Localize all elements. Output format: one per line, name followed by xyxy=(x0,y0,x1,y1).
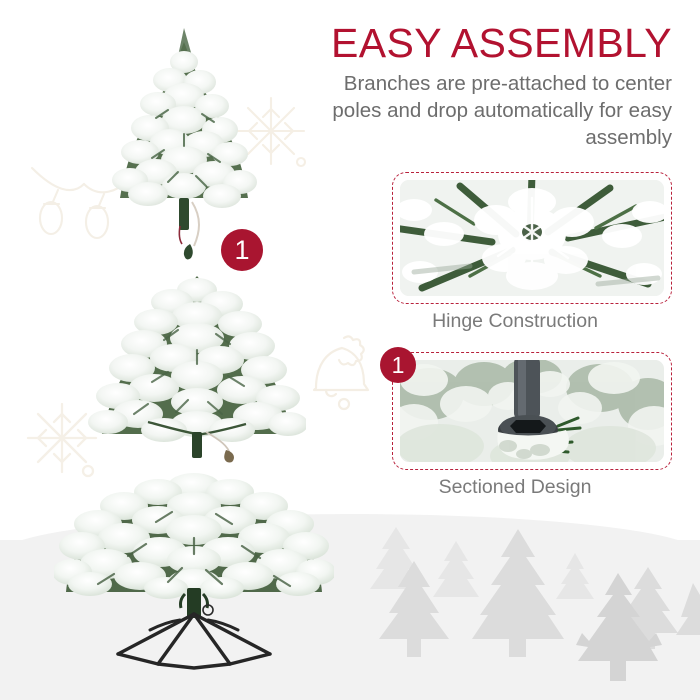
text-column: EASY ASSEMBLY Branches are pre-attached … xyxy=(330,0,700,700)
product-photo-column: 1 xyxy=(0,0,330,700)
sectioned-caption: Sectioned Design xyxy=(330,476,700,499)
page-title: EASY ASSEMBLY xyxy=(330,22,672,65)
hinge-panel-border xyxy=(392,172,672,304)
feature-panel-hinge xyxy=(392,172,672,304)
step-badge-panel: 1 xyxy=(380,347,416,383)
sectioned-panel-border xyxy=(392,352,672,470)
step-badge-tree: 1 xyxy=(221,229,263,271)
feature-panel-sectioned xyxy=(392,352,672,470)
page-subtitle: Branches are pre-attached to center pole… xyxy=(332,70,672,151)
tree-section-bottom xyxy=(54,468,334,673)
tree-section-middle xyxy=(88,272,306,472)
hinge-caption: Hinge Construction xyxy=(330,310,700,333)
infographic-canvas: 1 EASY ASSEMBLY Branches are pre-attache… xyxy=(0,0,700,700)
